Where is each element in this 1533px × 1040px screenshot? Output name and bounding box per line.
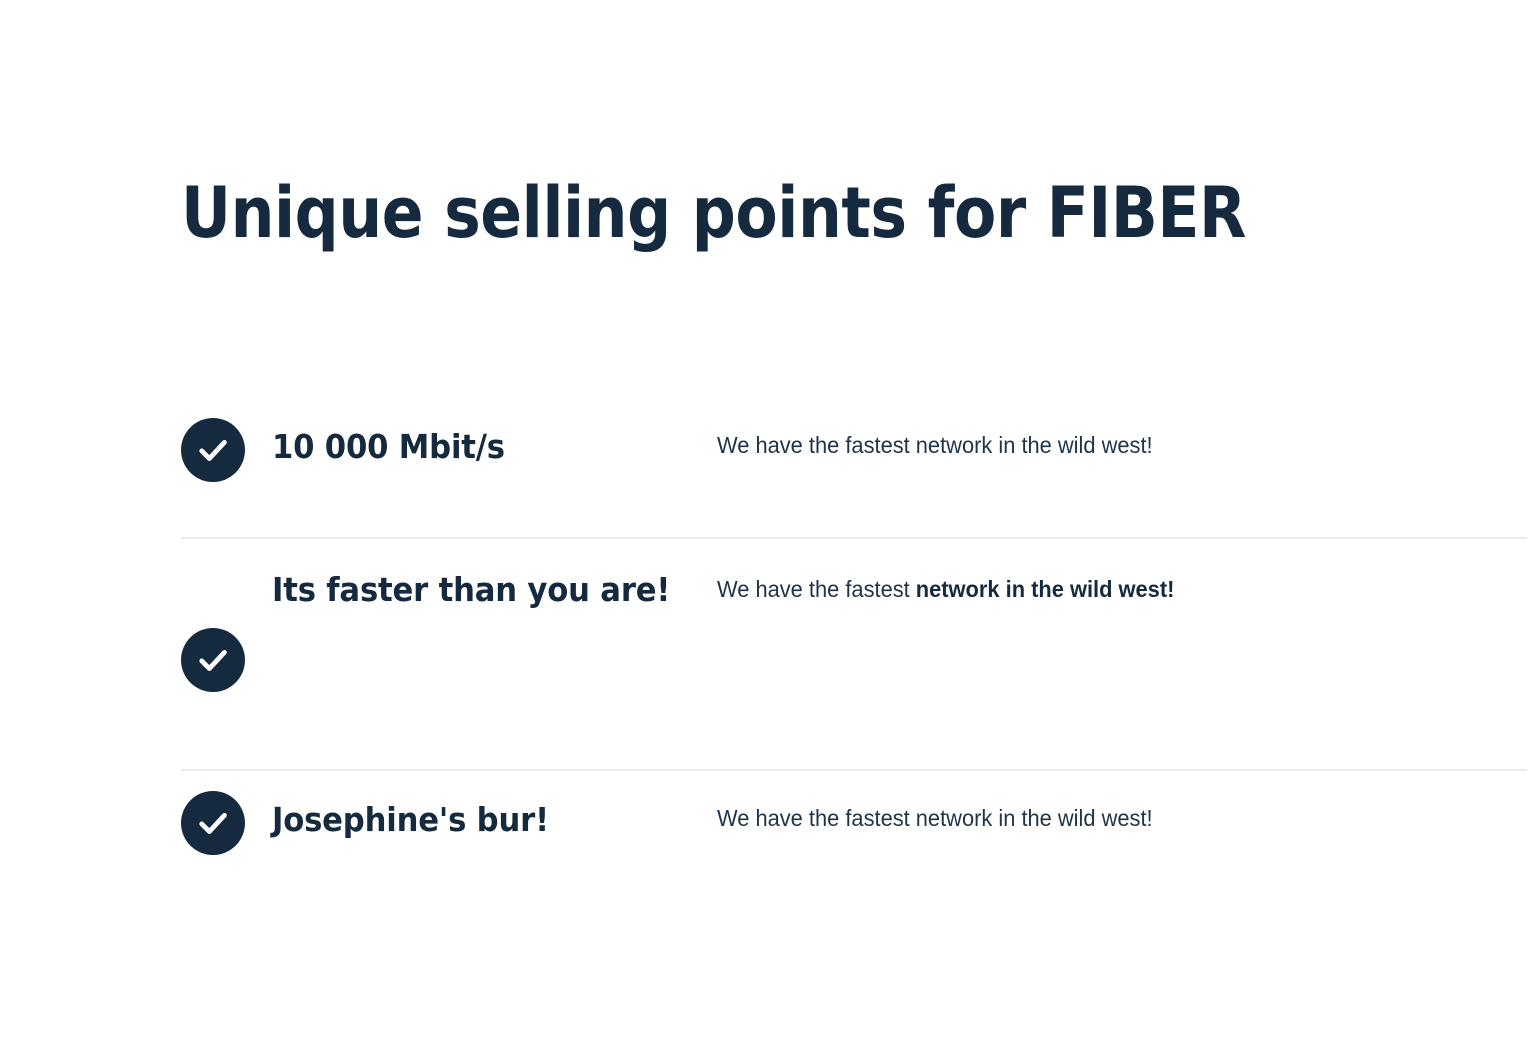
check-icon xyxy=(181,418,245,482)
usp-item: Its faster than you are! We have the fas… xyxy=(181,539,1527,769)
usp-item: Josephine's bur! We have the fastest net… xyxy=(181,771,1527,921)
usp-description-text: We have the fastest xyxy=(717,576,916,602)
check-icon xyxy=(181,628,245,692)
usp-item-description: We have the fastest network in the wild … xyxy=(717,572,1487,606)
usp-description-text: We have the fastest network in the wild … xyxy=(717,805,1153,831)
page-title: Unique selling points for FIBER xyxy=(181,178,1237,248)
usp-item-description: We have the fastest network in the wild … xyxy=(717,801,1487,835)
usp-item-heading: Its faster than you are! xyxy=(245,563,684,617)
usp-item-description: We have the fastest network in the wild … xyxy=(717,428,1487,462)
usp-list: 10 000 Mbit/s We have the fastest networ… xyxy=(181,396,1527,921)
usp-item: 10 000 Mbit/s We have the fastest networ… xyxy=(181,396,1527,537)
usp-item-heading: 10 000 Mbit/s xyxy=(245,420,684,474)
usp-item-heading: Josephine's bur! xyxy=(245,793,684,847)
check-icon xyxy=(181,791,245,855)
usp-description-text: We have the fastest network in the wild … xyxy=(717,432,1153,458)
page-root: Unique selling points for FIBER 10 000 M… xyxy=(0,0,1533,1040)
usp-description-emphasis: network in the wild west! xyxy=(916,576,1175,602)
